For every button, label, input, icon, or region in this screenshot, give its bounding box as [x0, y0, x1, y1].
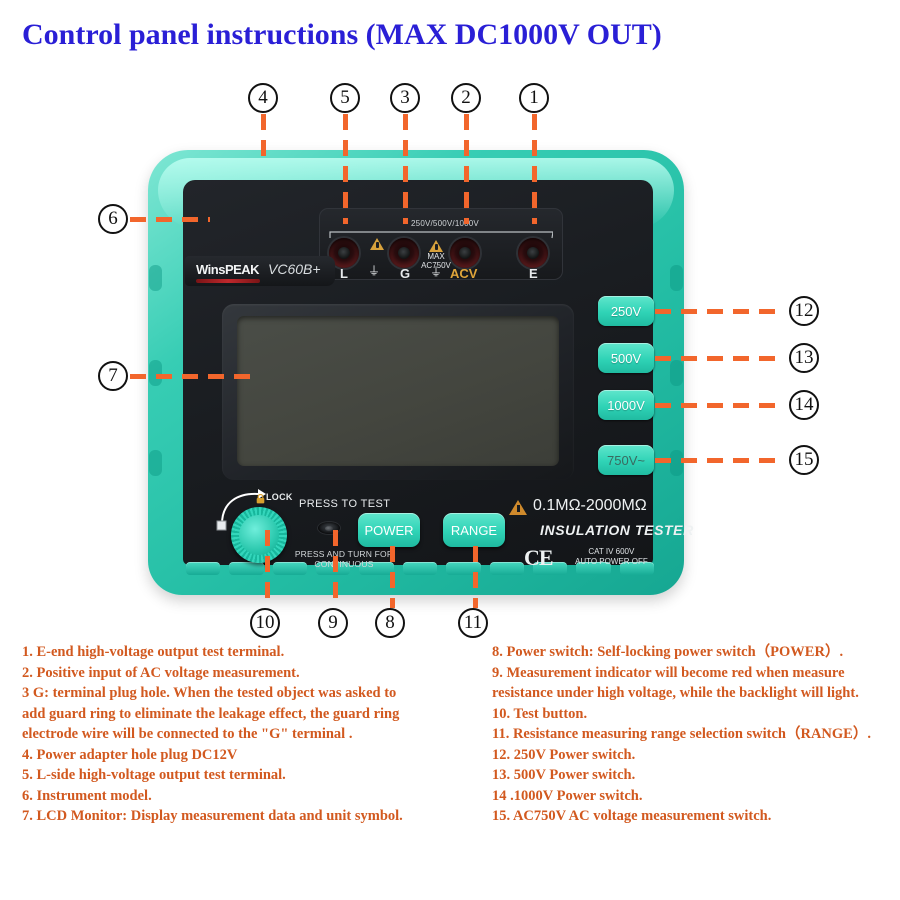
- leader-line: [265, 530, 270, 608]
- device-illustration: 250V/500V/1000V MAX AC750V ⏚ ⏚ L G ACV E…: [0, 60, 900, 620]
- cat-line1: CAT IV 600V: [575, 547, 648, 557]
- legend-item: 8. Power switch: Self-locking power swit…: [492, 642, 892, 663]
- button-1000v[interactable]: 1000V: [598, 390, 654, 420]
- callout-6[interactable]: 6: [98, 204, 128, 234]
- legend-item: 15. AC750V AC voltage measurement switch…: [492, 806, 892, 827]
- cat-rating-note: CAT IV 600V AUTO POWER OFF: [575, 547, 648, 567]
- leader-line: [390, 546, 395, 608]
- callout-9[interactable]: 9: [318, 608, 348, 638]
- terminal-range-label: 250V/500V/1000V: [380, 219, 510, 228]
- terminal-label-e: E: [529, 266, 538, 281]
- earth-ground-icon: ⏚: [368, 262, 380, 279]
- lock-icon: [256, 491, 265, 501]
- lock-label: LOCK: [266, 492, 293, 502]
- bumper-notch: [670, 265, 683, 291]
- brand-logo: WinsPEAK: [196, 262, 259, 277]
- cat-line2: AUTO POWER OFF: [575, 557, 648, 567]
- test-knob[interactable]: [231, 507, 287, 563]
- callout-10[interactable]: 10: [250, 608, 280, 638]
- product-type-label: INSULATION TESTER: [540, 522, 694, 538]
- terminal-label-l: L: [340, 266, 348, 281]
- bumper-notch: [149, 360, 162, 386]
- legend-item: 12. 250V Power switch.: [492, 745, 892, 766]
- grip-ridge: [186, 562, 220, 575]
- leader-line: [333, 530, 338, 608]
- legend-right-column: 8. Power switch: Self-locking power swit…: [492, 642, 892, 827]
- terminal-e-jack[interactable]: [518, 238, 548, 268]
- lcd-screen: [237, 316, 559, 466]
- legend-item: 3 G: terminal plug hole. When the tested…: [22, 683, 442, 704]
- callout-15[interactable]: 15: [789, 445, 819, 475]
- leader-line: [130, 374, 255, 379]
- legend-item: 11. Resistance measuring range selection…: [492, 724, 892, 745]
- callout-8[interactable]: 8: [375, 608, 405, 638]
- leader-line: [532, 114, 537, 224]
- earth-ground-icon: ⏚: [430, 263, 442, 280]
- callout-2[interactable]: 2: [451, 83, 481, 113]
- callout-1[interactable]: 1: [519, 83, 549, 113]
- bumper-notch: [149, 450, 162, 476]
- grip-ridge: [229, 562, 263, 575]
- callout-5[interactable]: 5: [330, 83, 360, 113]
- legend-item: 1. E-end high-voltage output test termin…: [22, 642, 442, 663]
- callout-7[interactable]: 7: [98, 361, 128, 391]
- grip-ridge: [403, 562, 437, 575]
- legend-left-column: 1. E-end high-voltage output test termin…: [22, 642, 442, 827]
- warning-triangle-icon: [429, 240, 443, 252]
- callout-3[interactable]: 3: [390, 83, 420, 113]
- page-title: Control panel instructions (MAX DC1000V …: [22, 18, 662, 52]
- leader-line: [464, 114, 469, 224]
- warning-triangle-icon: [370, 238, 384, 250]
- leader-line: [655, 356, 785, 361]
- callout-13[interactable]: 13: [789, 343, 819, 373]
- terminal-label-g: G: [400, 266, 410, 281]
- button-250v[interactable]: 250V: [598, 296, 654, 326]
- legend-item: resistance under high voltage, while the…: [492, 683, 892, 704]
- leader-line: [130, 217, 210, 222]
- terminal-label-acv: ACV: [450, 266, 477, 281]
- legend-item: add guard ring to eliminate the leakage …: [22, 704, 442, 725]
- press-turn-line2: CONTINUOUS: [288, 559, 400, 569]
- legend-item: 4. Power adapter hole plug DC12V: [22, 745, 442, 766]
- button-500v[interactable]: 500V: [598, 343, 654, 373]
- terminal-range-bracket: [329, 230, 553, 239]
- power-button[interactable]: POWER: [358, 513, 420, 547]
- legend-item: 7. LCD Monitor: Display measurement data…: [22, 806, 442, 827]
- legend-item: 6. Instrument model.: [22, 786, 442, 807]
- bumper-notch: [670, 450, 683, 476]
- legend-item: 9. Measurement indicator will become red…: [492, 663, 892, 684]
- range-spec-label: 0.1MΩ-2000MΩ: [533, 497, 647, 515]
- brand-underline: [196, 279, 260, 283]
- legend-item: 10. Test button.: [492, 704, 892, 725]
- legend-item: 2. Positive input of AC voltage measurem…: [22, 663, 442, 684]
- bumper-notch: [149, 265, 162, 291]
- leader-line: [473, 546, 478, 608]
- leader-line: [655, 458, 785, 463]
- press-turn-note: PRESS AND TURN FOR CONTINUOUS: [288, 549, 400, 569]
- button-750v-ac[interactable]: 750V~: [598, 445, 654, 475]
- leader-line: [343, 114, 348, 224]
- legend-item: 14 .1000V Power switch.: [492, 786, 892, 807]
- press-to-test-label: PRESS TO TEST: [299, 498, 390, 510]
- leader-line: [655, 403, 785, 408]
- range-button[interactable]: RANGE: [443, 513, 505, 547]
- bumper-notch: [670, 360, 683, 386]
- callout-14[interactable]: 14: [789, 390, 819, 420]
- legend-item: 13. 500V Power switch.: [492, 765, 892, 786]
- leader-line: [655, 309, 785, 314]
- callout-4[interactable]: 4: [248, 83, 278, 113]
- leader-line: [261, 114, 266, 156]
- leader-line: [403, 114, 408, 224]
- legend-item: electrode wire will be connected to the …: [22, 724, 442, 745]
- press-turn-line1: PRESS AND TURN FOR: [288, 549, 400, 559]
- model-label: VC60B+: [268, 261, 321, 277]
- callout-11[interactable]: 11: [458, 608, 488, 638]
- legend-item: 5. L-side high-voltage output test termi…: [22, 765, 442, 786]
- grip-ridge: [490, 562, 524, 575]
- ce-mark-icon: CE: [524, 545, 553, 571]
- warning-triangle-icon: [509, 500, 527, 515]
- max-ac-note-line1: MAX: [412, 252, 460, 261]
- callout-12[interactable]: 12: [789, 296, 819, 326]
